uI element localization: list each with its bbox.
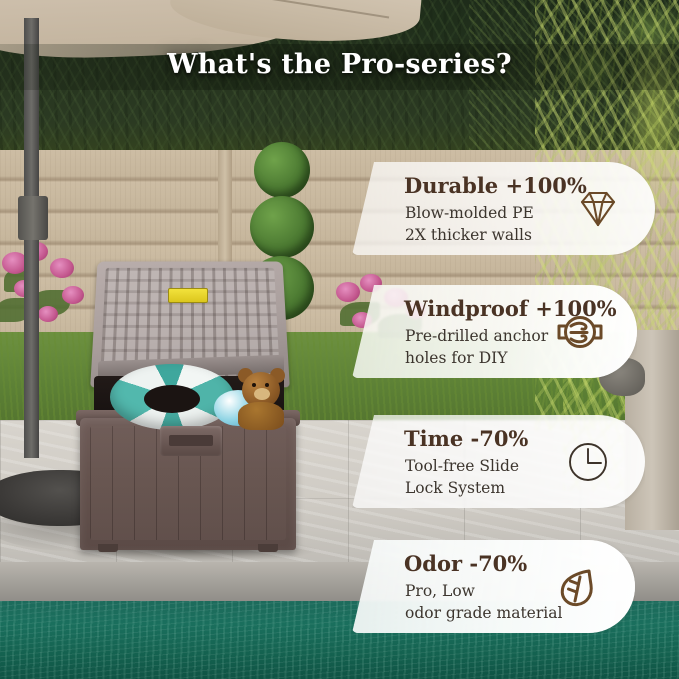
feature-card-time: Time -70% Tool-free Slide Lock System [352,415,645,508]
feature-line-1: Tool-free Slide [405,457,519,475]
deck-box-foot [98,544,118,552]
deck-box-foot [258,544,278,552]
feature-line-1: Blow-molded PE [405,204,534,222]
clock-icon [561,435,615,489]
feature-title: Durable +100% [404,173,587,198]
warning-label [168,288,208,303]
deck-box-product [72,258,302,548]
diamond-icon [571,182,625,236]
feature-card-durable: Durable +100% Blow-molded PE 2X thicker … [352,162,655,255]
feature-line-1: Pre-drilled anchor [405,327,548,345]
feature-card-odor: Odor -70% Pro, Low odor grade material [352,540,635,633]
feature-line-2: holes for DIY [405,349,508,367]
feature-card-windproof: Windproof +100% Pre-drilled anchor holes… [352,285,637,378]
leaf-icon [551,560,605,614]
deck-box-latch-handle [160,426,222,456]
teddy-bear-toy [232,366,288,428]
feature-title: Time -70% [404,426,528,451]
product-feature-image: What's the Pro-series? Durable +100% Blo… [0,0,679,679]
feature-line-2: odor grade material [405,604,562,622]
feature-line-2: 2X thicker walls [405,226,532,244]
feature-title: Odor -70% [404,551,527,576]
umbrella-bracket [18,196,48,240]
pool-float-toy [110,364,234,430]
wind-icon [553,305,607,359]
feature-line-1: Pro, Low [405,582,475,600]
feature-line-2: Lock System [405,479,505,497]
page-title: What's the Pro-series? [0,49,679,80]
